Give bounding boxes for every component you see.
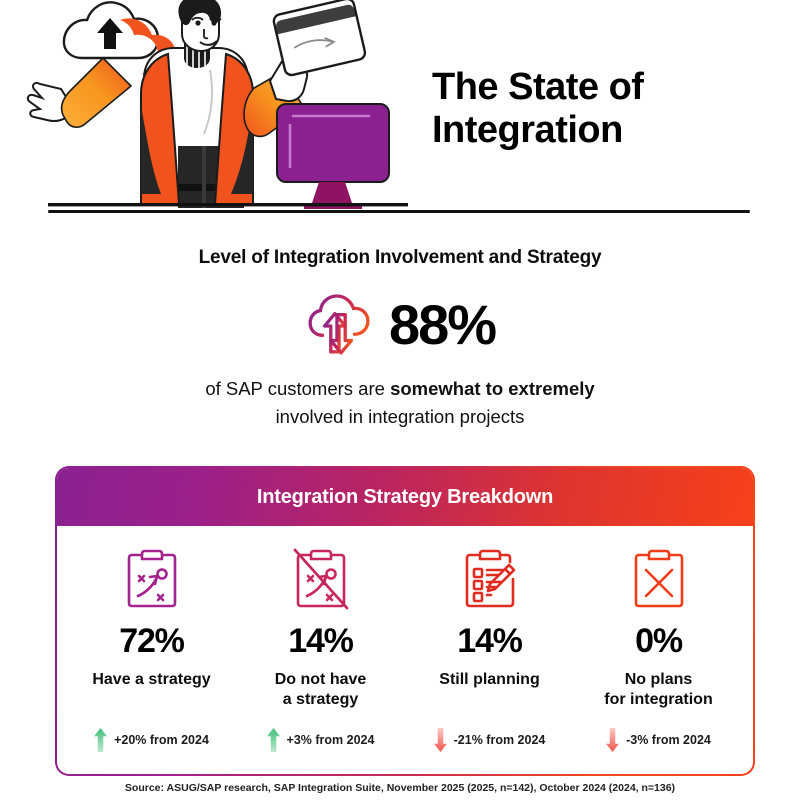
hero-section: The State of Integration bbox=[0, 0, 800, 215]
integration-strategy-breakdown-panel: Integration Strategy Breakdown 72% bbox=[55, 466, 755, 776]
breakdown-column-have-a-strategy: 72% Have a strategy +20% from 2024 bbox=[67, 548, 236, 752]
breakdown-column-do-not-have-a-strategy: 14% Do not have a strategy +3% from 2024 bbox=[236, 548, 405, 752]
breakdown-delta-text: -21% from 2024 bbox=[454, 733, 546, 747]
breakdown-delta-text: +3% from 2024 bbox=[287, 733, 375, 747]
headline-stat-caption: of SAP customers are somewhat to extreme… bbox=[0, 375, 800, 431]
breakdown-percent: 72% bbox=[119, 624, 183, 658]
breakdown-delta: +20% from 2024 bbox=[94, 728, 209, 752]
breakdown-percent: 14% bbox=[457, 624, 521, 658]
breakdown-delta: -21% from 2024 bbox=[434, 728, 546, 752]
breakdown-delta-text: -3% from 2024 bbox=[626, 733, 711, 747]
headline-stat-value: 88% bbox=[389, 297, 495, 353]
source-footnote: Source: ASUG/SAP research, SAP Integrati… bbox=[0, 782, 800, 794]
person-with-tablet-cloud-monitor-illustration bbox=[22, 0, 412, 214]
breakdown-label: Do not have a strategy bbox=[275, 670, 367, 712]
page-title-line2: Integration bbox=[432, 109, 772, 152]
breakdown-label: Still planning bbox=[439, 670, 539, 712]
clipboard-strategy-crossed-out-icon bbox=[292, 548, 350, 610]
headline-stat-row: 88% bbox=[0, 292, 800, 358]
breakdown-label-line1: Do not have bbox=[275, 671, 367, 688]
breakdown-percent: 0% bbox=[635, 624, 682, 658]
caption-prefix: of SAP customers are bbox=[205, 378, 390, 399]
breakdown-column-no-plans-for-integration: 0% No plans for integration -3% from 202… bbox=[574, 548, 743, 752]
clipboard-strategy-icon bbox=[123, 548, 181, 610]
arrow-down-icon bbox=[606, 728, 619, 752]
caption-emphasis: somewhat to extremely bbox=[390, 378, 595, 399]
breakdown-percent: 14% bbox=[288, 624, 352, 658]
panel-header: Integration Strategy Breakdown bbox=[57, 468, 753, 526]
breakdown-label-line2: a strategy bbox=[283, 691, 359, 708]
arrow-up-icon bbox=[267, 728, 280, 752]
page-title: The State of Integration bbox=[432, 66, 772, 153]
breakdown-delta-text: +20% from 2024 bbox=[114, 733, 209, 747]
cloud-up-down-arrows-icon bbox=[305, 292, 371, 358]
level-section-heading: Level of Integration Involvement and Str… bbox=[0, 247, 800, 269]
breakdown-delta: +3% from 2024 bbox=[267, 728, 375, 752]
breakdown-label-line1: Still planning bbox=[439, 671, 539, 688]
breakdown-label: Have a strategy bbox=[92, 670, 210, 712]
breakdown-label-line2: for integration bbox=[604, 691, 712, 708]
breakdown-label-line1: Have a strategy bbox=[92, 671, 210, 688]
page-title-line1: The State of bbox=[432, 66, 772, 109]
arrow-down-icon bbox=[434, 728, 447, 752]
panel-title: Integration Strategy Breakdown bbox=[257, 486, 553, 509]
breakdown-delta: -3% from 2024 bbox=[606, 728, 711, 752]
breakdown-columns: 72% Have a strategy +20% from 2024 bbox=[57, 526, 753, 752]
breakdown-label: No plans for integration bbox=[604, 670, 712, 712]
breakdown-column-still-planning: 14% Still planning -21% from 2024 bbox=[405, 548, 574, 752]
header-divider bbox=[48, 210, 750, 213]
caption-suffix: involved in integration projects bbox=[276, 406, 525, 427]
clipboard-x-icon bbox=[630, 548, 688, 610]
arrow-up-icon bbox=[94, 728, 107, 752]
clipboard-checklist-pencil-icon bbox=[461, 548, 519, 610]
infographic-page: The State of Integration Level of Integr… bbox=[0, 0, 800, 800]
breakdown-label-line1: No plans bbox=[625, 671, 693, 688]
